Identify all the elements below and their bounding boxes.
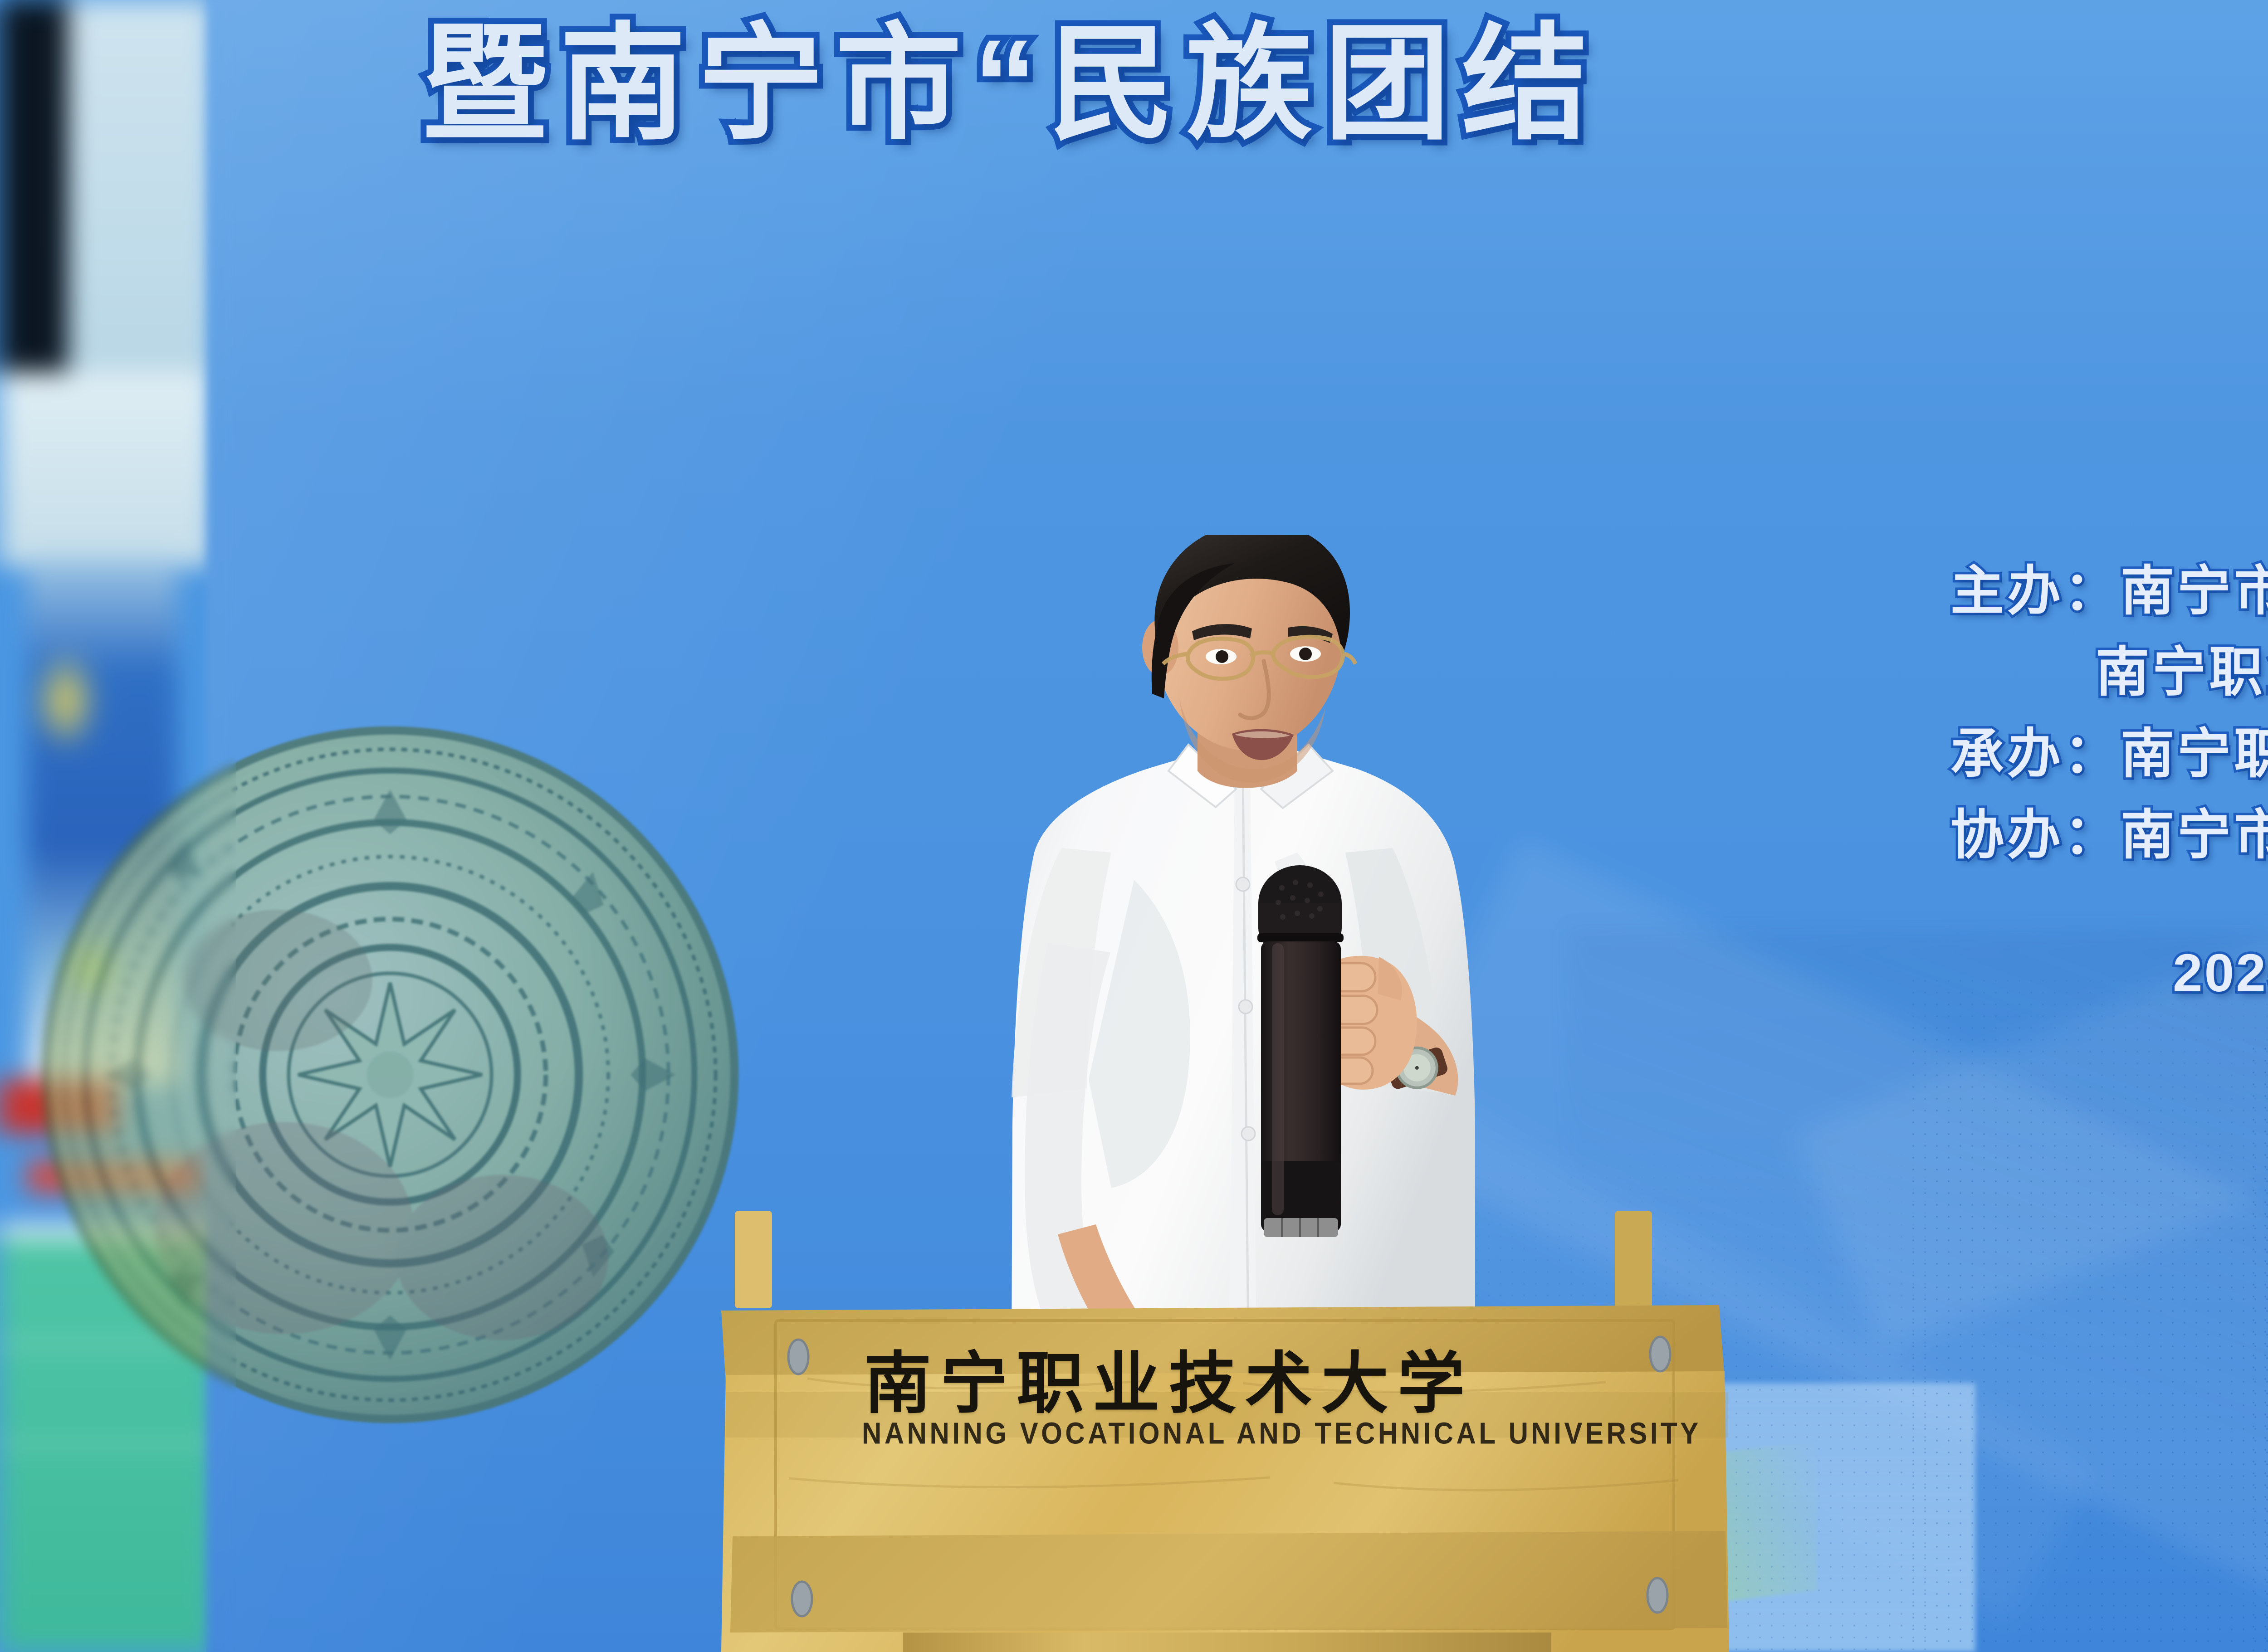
organizer-line-executor: 承办：南宁职业技术大学 bbox=[1950, 724, 2268, 784]
lectern-column bbox=[903, 1633, 1551, 1652]
lectern-name-cn: 南宁职业技术大学 bbox=[864, 1329, 1474, 1426]
lectern-name-en: NANNING VOCATIONAL AND TECHNICAL UNIVERS… bbox=[862, 1416, 1701, 1451]
banner-title: 暨南宁市“民族团结 bbox=[422, 0, 1600, 164]
event-photo-scene: 暨南宁市“民族团结 主办：南宁市民族宗教事 南宁职业技术大学 承办：南宁职业技术… bbox=[0, 0, 2268, 1652]
hall-wall-lower bbox=[0, 372, 213, 567]
organizer-line-host: 主办：南宁市民族宗教事 bbox=[1950, 561, 2268, 621]
hall-dark-wall bbox=[0, 0, 79, 435]
organizer-line-host-2: 南宁职业技术大学 bbox=[1950, 632, 2268, 713]
organizer-line-coorganizer: 协办：南宁市轻灵毽球俱 bbox=[1950, 805, 2268, 865]
halftone-dot-field bbox=[2248, 1043, 2268, 1652]
hall-wall-upper bbox=[68, 0, 213, 372]
halftone-dot-field bbox=[1907, 975, 2268, 1652]
banner-organizer-block: 主办：南宁市民族宗教事 南宁职业技术大学 承办：南宁职业技术大学 协办：南宁市轻… bbox=[1950, 551, 2268, 1014]
bronze-drum-icon bbox=[36, 721, 744, 1428]
floor-line bbox=[0, 1442, 213, 1445]
banner-date: 2025年4月25 bbox=[1950, 933, 2268, 1014]
